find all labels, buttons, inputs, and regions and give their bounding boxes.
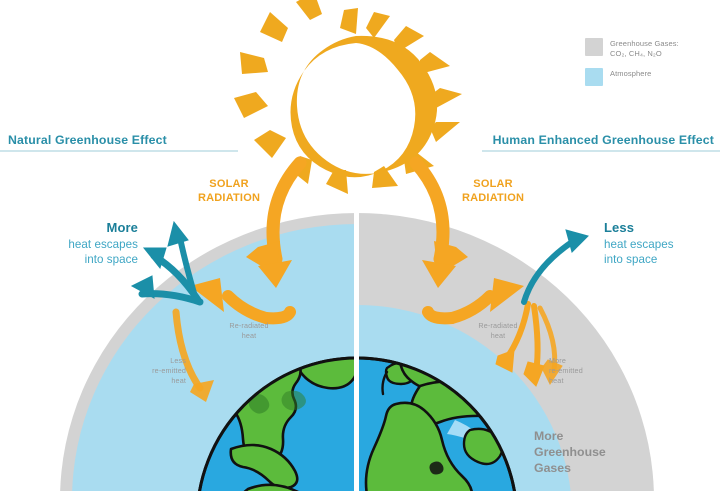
heat-escape-right-line1: heat escapes — [604, 237, 720, 252]
heat-escape-left-line2: into space — [20, 252, 138, 267]
ghg-note-line1: More — [534, 428, 624, 444]
re-emitted-heat-label-right: More re-emitted heat — [549, 356, 611, 386]
section-rule-left — [0, 150, 238, 152]
legend: Greenhouse Gases: CO₂, CH₄, N₂O Atmosphe… — [585, 38, 717, 95]
re-emitted-left-line1: re-emitted — [128, 366, 186, 376]
heat-escape-right-emphasis: Less — [604, 220, 720, 237]
re-emitted-heat-label-left: Less re-emitted heat — [128, 356, 186, 386]
re-radiated-right-line1: Re-radiated — [463, 321, 533, 331]
legend-item-greenhouse-gases: Greenhouse Gases: CO₂, CH₄, N₂O — [585, 38, 717, 59]
legend-item-atmosphere: Atmosphere — [585, 68, 717, 86]
legend-label-greenhouse-gases: Greenhouse Gases: — [610, 39, 679, 49]
re-radiated-left-line1: Re-radiated — [214, 321, 284, 331]
section-rule-right — [482, 150, 720, 152]
heat-escape-label-left: More heat escapes into space — [20, 220, 138, 267]
re-radiated-heat-label-left: Re-radiated heat — [214, 321, 284, 341]
re-radiated-heat-label-right: Re-radiated heat — [463, 321, 533, 341]
re-emitted-right-emphasis: More — [549, 356, 611, 366]
re-emitted-left-emphasis: Less — [128, 356, 186, 366]
ghg-note-line2: Greenhouse — [534, 444, 624, 460]
heat-escape-left-emphasis: More — [20, 220, 138, 237]
greenhouse-effect-diagram: Greenhouse Gases: CO₂, CH₄, N₂O Atmosphe… — [0, 0, 720, 491]
section-header-natural: Natural Greenhouse Effect — [8, 133, 167, 147]
solar-radiation-label-right: SOLAR RADIATION — [462, 178, 524, 206]
re-emitted-right-line2: heat — [549, 376, 611, 386]
section-header-human-enhanced: Human Enhanced Greenhouse Effect — [493, 133, 714, 147]
solar-label-left-line1: SOLAR — [198, 178, 260, 192]
more-greenhouse-gases-note: More Greenhouse Gases — [534, 428, 624, 477]
re-emitted-right-line1: re-emitted — [549, 366, 611, 376]
legend-swatch-atmosphere — [585, 68, 603, 86]
heat-escape-left-line1: heat escapes — [20, 237, 138, 252]
solar-label-left-line2: RADIATION — [198, 192, 260, 206]
solar-label-right-line1: SOLAR — [462, 178, 524, 192]
hemisphere-divider — [354, 150, 359, 491]
ghg-note-line3: Gases — [534, 460, 624, 476]
solar-radiation-label-left: SOLAR RADIATION — [198, 178, 260, 206]
heat-escape-label-right: Less heat escapes into space — [604, 220, 720, 267]
solar-label-right-line2: RADIATION — [462, 192, 524, 206]
legend-label-atmosphere: Atmosphere — [610, 69, 651, 79]
re-emitted-left-line2: heat — [128, 376, 186, 386]
heat-escape-right-line2: into space — [604, 252, 720, 267]
sun-icon — [234, 0, 462, 194]
re-radiated-left-line2: heat — [214, 331, 284, 341]
re-radiated-right-line2: heat — [463, 331, 533, 341]
legend-swatch-greenhouse-gases — [585, 38, 603, 56]
legend-sublabel-greenhouse-gases: CO₂, CH₄, N₂O — [610, 49, 679, 59]
